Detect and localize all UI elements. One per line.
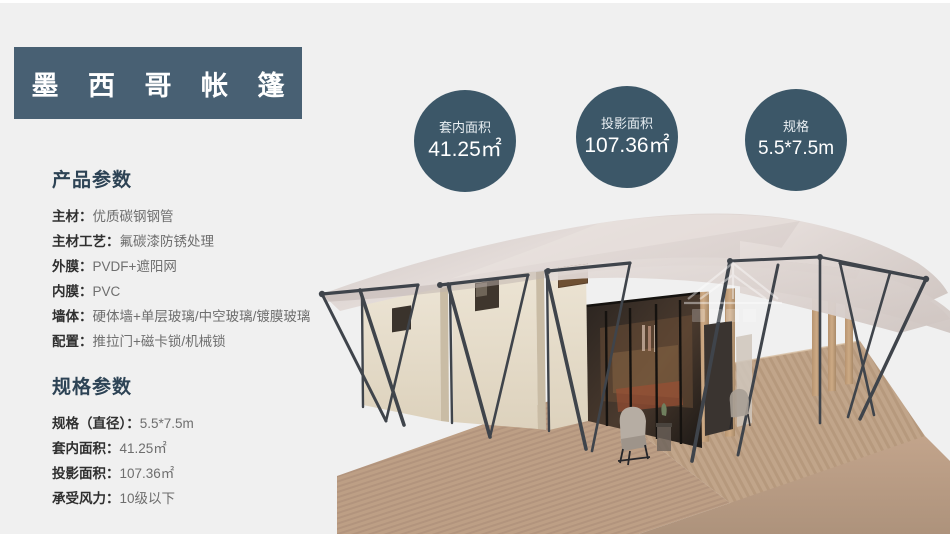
spec-label: 主材工艺： [52,234,120,249]
spec-value: 推拉门+磁卡锁/机械锁 [93,334,226,349]
page-title: 墨 西 哥 帐 篷 [20,64,295,103]
product-section-heading: 产品参数 [52,165,362,192]
badge-value: 107.36㎡ [584,134,669,158]
badge-value: 5.5*7.5m [758,137,834,161]
spec-value: 10级以下 [120,491,176,506]
spec-label: 配置： [52,334,93,349]
spec-label: 规格（直径）： [52,416,140,431]
badge-interior-area: 套内面积 41.25㎡ [414,90,516,192]
spec-value: 氟碳漆防锈处理 [120,234,215,249]
spec-value: 5.5*7.5m [140,416,194,431]
badge-value: 41.25㎡ [428,138,502,162]
spec-value: PVDF+遮阳网 [93,259,177,274]
badge-dimensions: 规格 5.5*7.5m [745,89,847,191]
spec-label: 外膜： [52,259,93,274]
title-banner: 墨 西 哥 帐 篷 [14,47,302,119]
spec-label: 承受风力： [52,491,120,506]
tent-render-image [300,193,950,534]
spec-value: 优质碳钢钢管 [93,209,174,224]
spec-label: 投影面积： [52,466,120,481]
badge-label: 套内面积 [439,120,491,136]
spec-value: 107.36㎡ [120,466,175,481]
spec-value: 硬体墙+单层玻璃/中空玻璃/镀膜玻璃 [93,309,311,324]
spec-label: 墙体： [52,309,93,324]
spec-label: 主材： [52,209,93,224]
badge-label: 规格 [783,119,809,135]
tent-render-svg [300,193,950,534]
highlight-badge-row: 套内面积 41.25㎡ 投影面积 107.36㎡ 规格 5.5*7.5m [410,86,860,194]
spec-label: 套内面积： [52,441,120,456]
badge-label: 投影面积 [601,116,653,132]
spec-value: 41.25㎡ [120,441,167,456]
spec-value: PVC [93,284,121,299]
spec-label: 内膜： [52,284,93,299]
badge-projected-area: 投影面积 107.36㎡ [576,86,678,188]
slide-root: 墨 西 哥 帐 篷 产品参数 主材：优质碳钢钢管 主材工艺：氟碳漆防锈处理 外膜… [0,0,950,534]
